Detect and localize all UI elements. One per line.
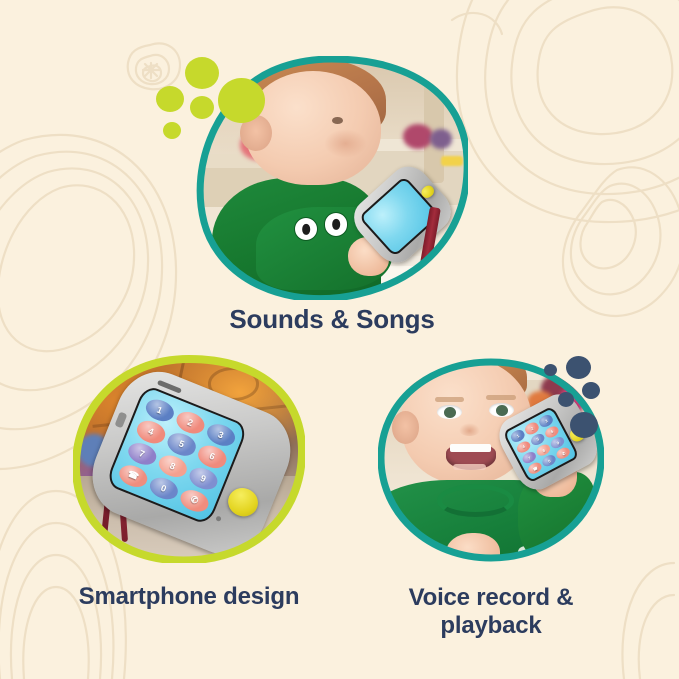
doodle-squiggle-top <box>452 13 502 34</box>
photo-baby-holding-phone-to-ear: 123456789☎0✆ <box>378 358 604 562</box>
phone-key-0: 0 <box>146 474 181 504</box>
feature-card-voice-record: 123456789☎0✆ Voice record & <box>378 358 604 562</box>
doodle-rings-top-right <box>457 0 679 222</box>
feature-card-sounds-songs: Sounds & Songs <box>196 56 468 300</box>
caption-line-2: playback <box>366 612 616 640</box>
phone-key-end: ✆ <box>177 486 212 516</box>
promo-feature-graphic: Sounds & Songs <box>0 0 679 679</box>
caption-smartphone-design: Smartphone design <box>79 583 300 611</box>
doodle-arc-bottom-right <box>622 563 674 679</box>
caption-sounds-songs: Sounds & Songs <box>229 304 434 335</box>
caption-voice-record: Voice record & playback <box>366 584 616 641</box>
feature-card-smartphone-design: 123456789☎0✆ Smartphone design <box>73 355 305 563</box>
caption-line-1: Voice record & <box>366 584 616 612</box>
photo-toy-phone-product: 123456789☎0✆ <box>73 355 305 563</box>
phone-key-call: ☎ <box>116 461 151 491</box>
doodle-triangle-right <box>563 167 679 316</box>
doodle-small-circle-top-left <box>128 43 180 89</box>
